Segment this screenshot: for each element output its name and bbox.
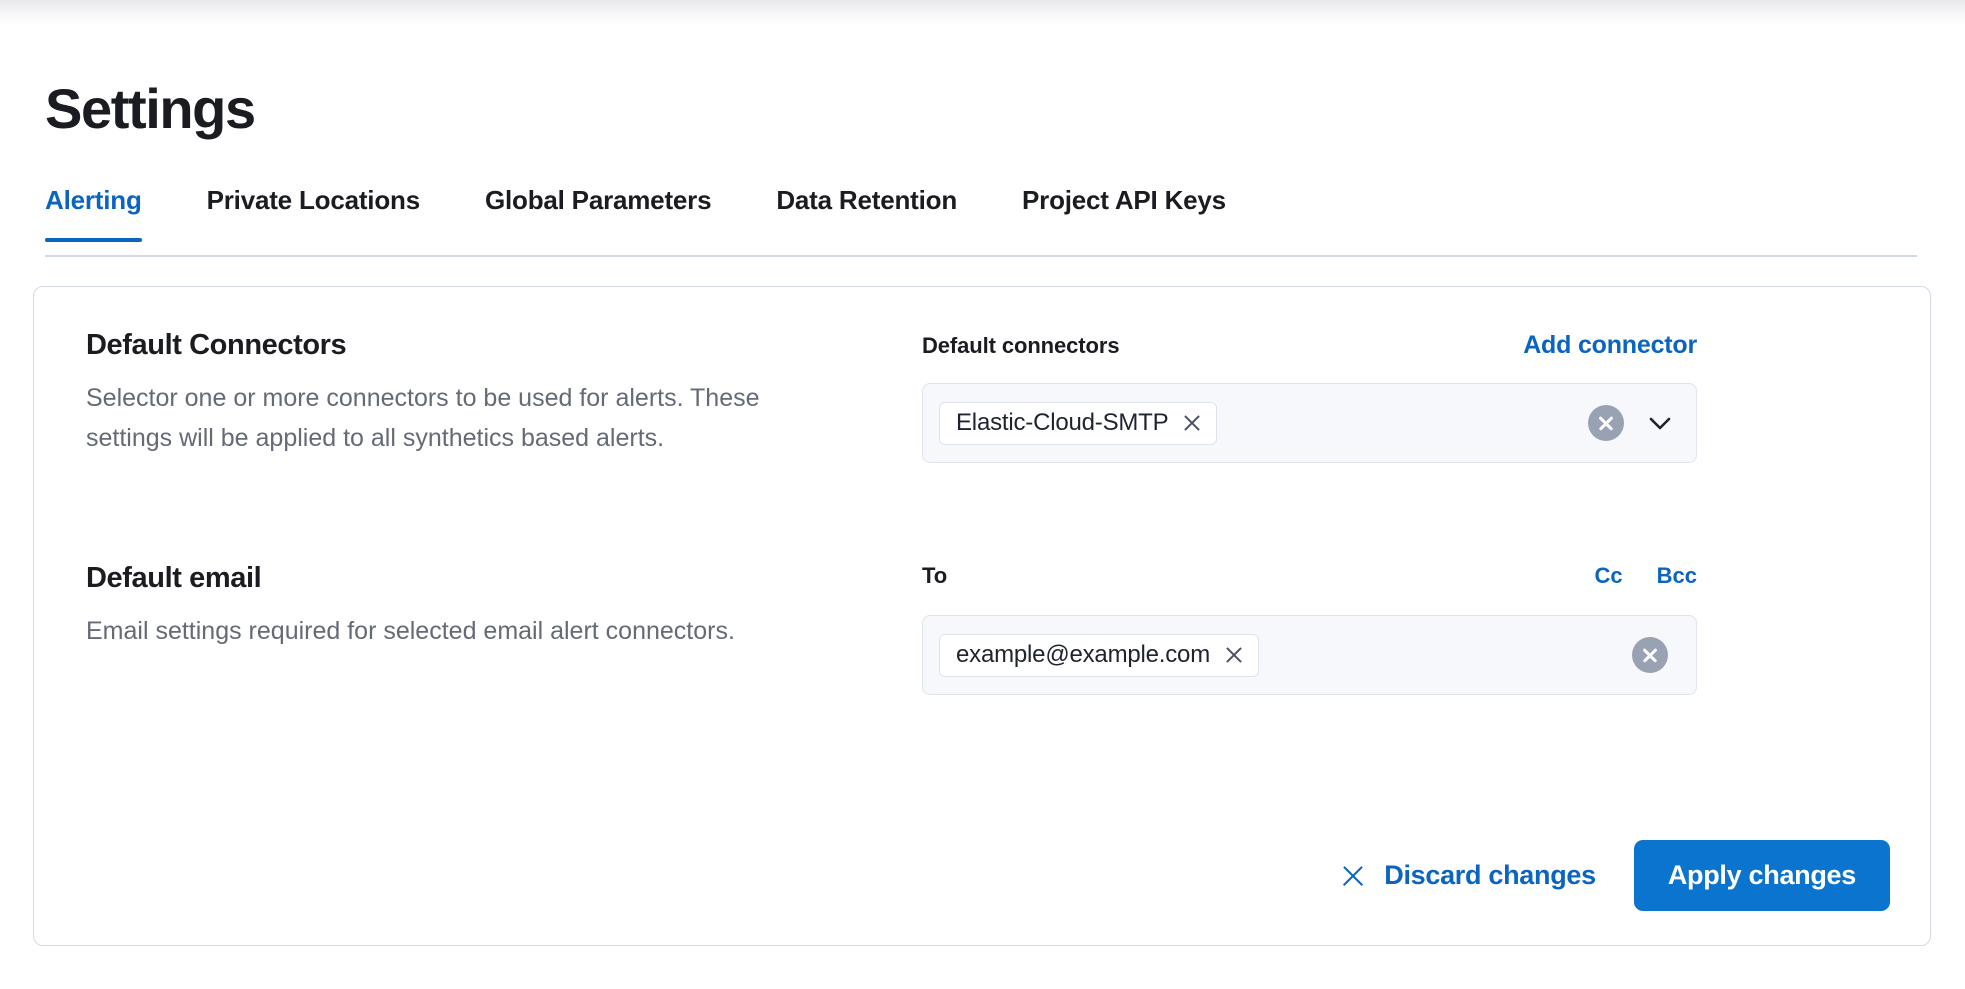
- window-chrome-gradient: [0, 0, 1965, 26]
- default-email-field-block: To Cc Bcc example@example.com: [922, 563, 1697, 695]
- tab-project-api-keys[interactable]: Project API Keys: [1022, 185, 1226, 240]
- page-title: Settings: [45, 78, 255, 140]
- default-email-description-block: Default email Email settings required fo…: [86, 562, 846, 651]
- default-connectors-field-label: Default connectors: [922, 333, 1119, 359]
- default-connectors-description-block: Default Connectors Selector one or more …: [86, 329, 846, 458]
- settings-card: Default Connectors Selector one or more …: [33, 286, 1931, 946]
- email-pill[interactable]: example@example.com: [939, 634, 1259, 677]
- tab-alerting[interactable]: Alerting: [45, 185, 142, 240]
- default-email-description: Email settings required for selected ema…: [86, 611, 826, 651]
- connector-pill-remove-icon[interactable]: [1182, 413, 1202, 433]
- tab-data-retention[interactable]: Data Retention: [776, 185, 957, 240]
- to-email-combobox[interactable]: example@example.com: [922, 615, 1697, 695]
- bcc-link[interactable]: Bcc: [1657, 563, 1697, 589]
- cc-link[interactable]: Cc: [1595, 563, 1623, 589]
- default-connectors-clear-icon[interactable]: [1588, 405, 1624, 441]
- default-connectors-heading: Default Connectors: [86, 329, 846, 362]
- add-connector-link[interactable]: Add connector: [1523, 331, 1697, 360]
- default-connectors-description: Selector one or more connectors to be us…: [86, 378, 826, 458]
- to-email-clear-icon[interactable]: [1632, 637, 1668, 673]
- default-connectors-combobox[interactable]: Elastic-Cloud-SMTP: [922, 383, 1697, 463]
- tab-bar: Alerting Private Locations Global Parame…: [45, 185, 1917, 257]
- email-pill-remove-icon[interactable]: [1224, 645, 1244, 665]
- default-email-field-header: To Cc Bcc: [922, 563, 1697, 597]
- email-pill-label: example@example.com: [956, 643, 1210, 667]
- tab-global-parameters[interactable]: Global Parameters: [485, 185, 711, 240]
- discard-changes-label: Discard changes: [1384, 860, 1596, 891]
- default-email-heading: Default email: [86, 562, 846, 595]
- settings-page: Settings Alerting Private Locations Glob…: [0, 0, 1965, 989]
- connector-pill-label: Elastic-Cloud-SMTP: [956, 411, 1168, 435]
- tab-private-locations[interactable]: Private Locations: [207, 185, 420, 240]
- apply-changes-button[interactable]: Apply changes: [1634, 840, 1890, 911]
- card-footer-actions: Discard changes Apply changes: [1334, 840, 1890, 911]
- default-connectors-field-header: Default connectors Add connector: [922, 331, 1697, 365]
- default-connectors-field-block: Default connectors Add connector Elastic…: [922, 331, 1697, 463]
- to-field-label: To: [922, 563, 947, 589]
- close-icon: [1340, 863, 1366, 889]
- discard-changes-button[interactable]: Discard changes: [1334, 850, 1602, 901]
- email-header-actions: Cc Bcc: [1595, 563, 1697, 589]
- connector-pill[interactable]: Elastic-Cloud-SMTP: [939, 402, 1217, 445]
- chevron-down-icon[interactable]: [1646, 409, 1674, 437]
